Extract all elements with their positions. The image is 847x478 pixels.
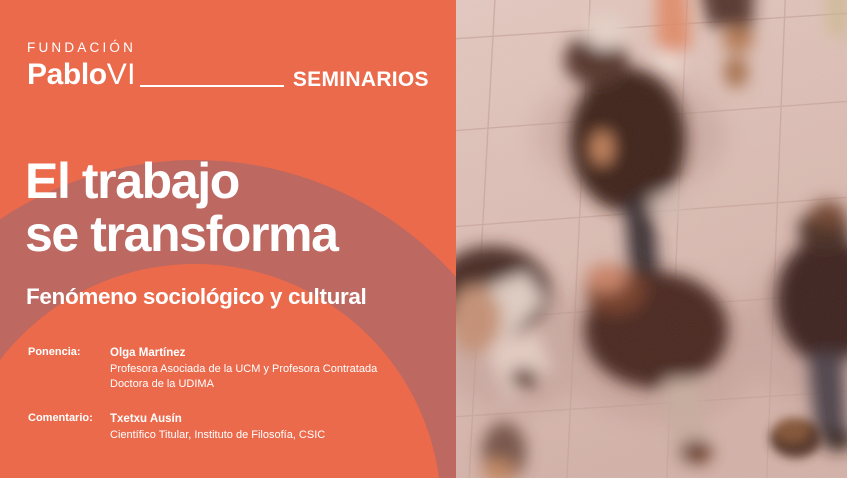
logo-fundacion-text: FUNDACIÓN	[27, 41, 427, 55]
page-title: El trabajo se transforma	[25, 155, 445, 261]
credit-role-label: Ponencia:	[28, 345, 110, 361]
seminarios-label: SEMINARIOS	[293, 69, 429, 90]
seminar-poster: FUNDACIÓN Pablo VI SEMINARIOS El trabajo…	[0, 0, 847, 478]
title-line-1: El trabajo	[25, 155, 445, 208]
credit-speaker-affiliation-line-2: Doctora de la UDIMA	[110, 377, 448, 393]
credit-comentario: Comentario: Txetxu Ausín Científico Titu…	[28, 411, 448, 443]
title-line-2: se transforma	[25, 208, 445, 261]
crowd-photo	[456, 0, 847, 478]
logo-pablo-text: Pablo	[27, 60, 107, 90]
credit-ponencia: Ponencia: Olga Martínez Profesora Asocia…	[28, 345, 448, 393]
credit-speaker-affiliation-line-1: Profesora Asociada de la UCM y Profesora…	[110, 362, 448, 378]
brand-logo[interactable]: FUNDACIÓN Pablo VI SEMINARIOS	[27, 41, 427, 90]
logo-vi-text: VI	[107, 60, 136, 90]
page-subtitle: Fenómeno sociológico y cultural	[26, 285, 366, 310]
orange-panel: FUNDACIÓN Pablo VI SEMINARIOS El trabajo…	[0, 0, 456, 478]
credits-block: Ponencia: Olga Martínez Profesora Asocia…	[28, 345, 448, 461]
credit-role-label: Comentario:	[28, 411, 110, 427]
credit-speaker-affiliation-line-1: Científico Titular, Instituto de Filosof…	[110, 428, 448, 444]
crowd-photo-illustration	[456, 0, 847, 478]
credit-speaker-name: Olga Martínez	[110, 345, 448, 362]
logo-divider-rule	[140, 85, 284, 87]
credit-speaker-name: Txetxu Ausín	[110, 411, 448, 428]
